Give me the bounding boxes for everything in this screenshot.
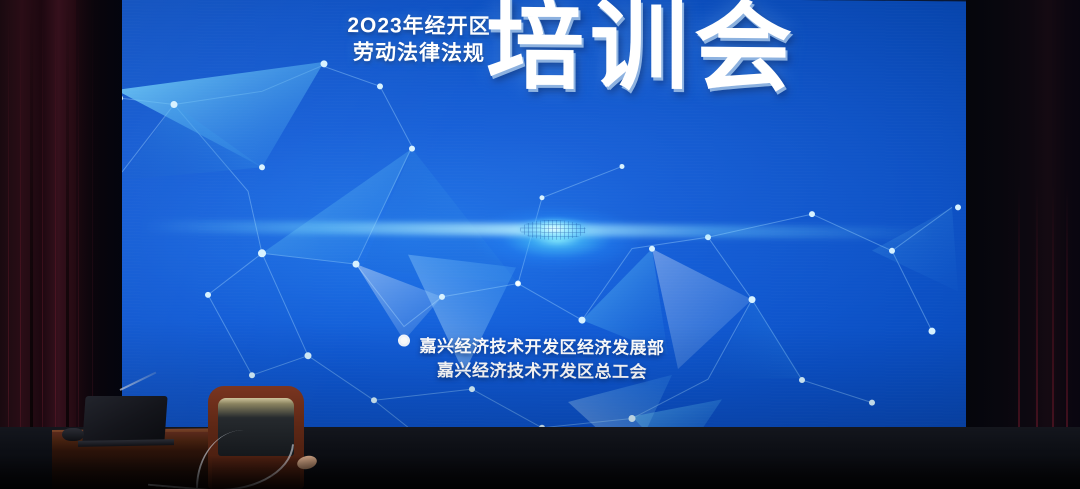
photo-scene: 2O23年经开区 劳动法律法规 培训会 嘉兴经济技术开发区经济发展部 嘉兴经济技…	[0, 0, 1080, 489]
floor-shadow	[0, 455, 1080, 489]
mouse	[62, 428, 84, 441]
light-grid	[520, 220, 586, 241]
stage-curtain-right	[966, 0, 1080, 489]
slide-organizations: 嘉兴经济技术开发区经济发展部 嘉兴经济技术开发区总工会	[312, 334, 772, 386]
organization-line-2: 嘉兴经济技术开发区总工会	[312, 358, 772, 386]
